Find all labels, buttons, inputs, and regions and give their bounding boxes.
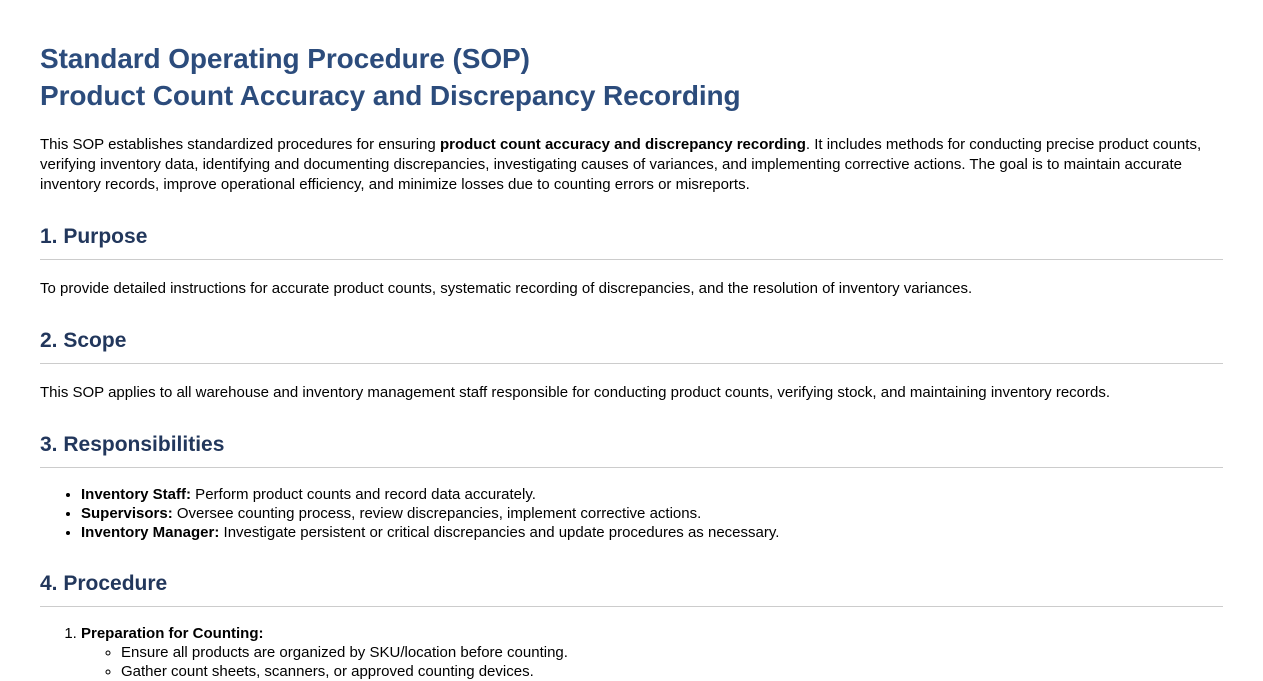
procedure-sublist: Ensure all products are organized by SKU…: [81, 643, 1223, 681]
section-body-purpose: To provide detailed instructions for acc…: [40, 279, 1223, 299]
intro-paragraph: This SOP establishes standardized proced…: [40, 135, 1223, 195]
responsibility-description: Investigate persistent or critical discr…: [219, 524, 779, 541]
responsibility-description: Perform product counts and record data a…: [191, 486, 536, 503]
section-heading-scope: 2. Scope: [40, 327, 1223, 364]
document-page: Standard Operating Procedure (SOP) Produ…: [0, 0, 1263, 681]
responsibility-description: Oversee counting process, review discrep…: [173, 505, 702, 522]
section-heading-responsibilities: 3. Responsibilities: [40, 431, 1223, 468]
list-item: Ensure all products are organized by SKU…: [121, 643, 1223, 662]
intro-text-before-bold: This SOP establishes standardized proced…: [40, 136, 440, 153]
list-item: Preparation for Counting: Ensure all pro…: [81, 624, 1223, 681]
procedure-step-label: Preparation for Counting:: [81, 625, 264, 642]
list-item: Supervisors: Oversee counting process, r…: [81, 504, 1223, 523]
section-heading-purpose: 1. Purpose: [40, 223, 1223, 260]
list-item: Gather count sheets, scanners, or approv…: [121, 662, 1223, 681]
responsibilities-list: Inventory Staff: Perform product counts …: [40, 485, 1223, 542]
procedure-list: Preparation for Counting: Ensure all pro…: [40, 624, 1223, 681]
list-item: Inventory Staff: Perform product counts …: [81, 485, 1223, 504]
page-title: Standard Operating Procedure (SOP) Produ…: [40, 0, 1223, 114]
section-body-scope: This SOP applies to all warehouse and in…: [40, 383, 1223, 403]
section-heading-procedure: 4. Procedure: [40, 570, 1223, 607]
title-line-secondary: Product Count Accuracy and Discrepancy R…: [40, 77, 1223, 114]
intro-emphasis: product count accuracy and discrepancy r…: [440, 136, 806, 153]
title-line-primary: Standard Operating Procedure (SOP): [40, 40, 1223, 77]
responsibility-role: Inventory Staff:: [81, 486, 191, 503]
responsibility-role: Inventory Manager:: [81, 524, 219, 541]
list-item: Inventory Manager: Investigate persisten…: [81, 523, 1223, 542]
responsibility-role: Supervisors:: [81, 505, 173, 522]
